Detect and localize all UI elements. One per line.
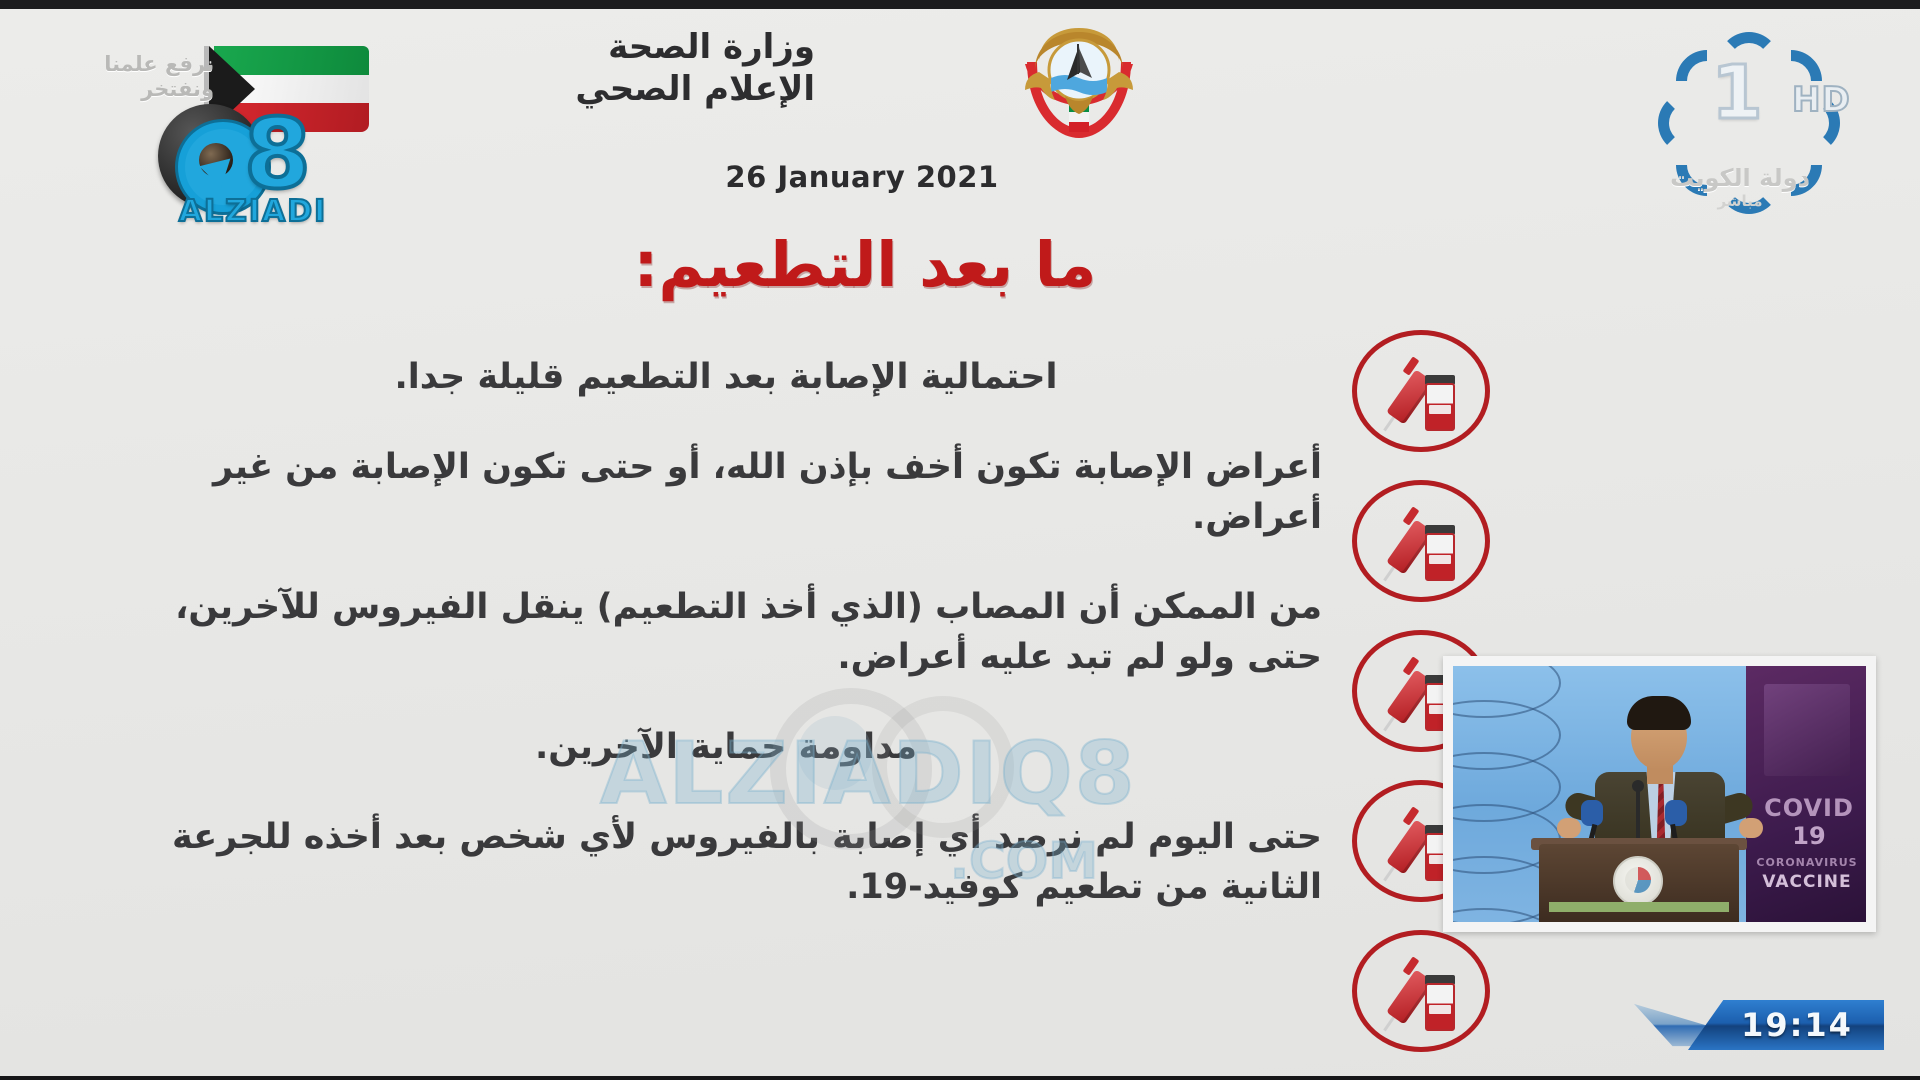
live-indicator: مباشر	[1640, 192, 1840, 210]
broadcast-clock: 19:14	[1688, 1000, 1884, 1050]
channel-country-label: دولة الكويت	[1640, 164, 1840, 192]
vaccine-photo	[1764, 684, 1850, 776]
page-title-text: ما بعد التطعيم:	[634, 228, 1097, 301]
syringe-vaccine-icon	[1352, 930, 1490, 1052]
letterbox-bottom	[0, 1076, 1920, 1080]
backdrop-vaccine-label: VACCINE	[1748, 872, 1866, 892]
ministry-title: وزارة الصحة الإعلام الصحي	[575, 26, 815, 110]
page-title: ما بعد التطعيم:	[0, 228, 1920, 301]
channel-number: 1	[1702, 56, 1772, 130]
microphone-stand	[1636, 788, 1640, 844]
backdrop-coronavirus-label: CORONAVIRUS	[1748, 856, 1866, 869]
video-frame: COVID 19 CORONAVIRUS VACCINE	[1453, 666, 1866, 922]
clock-time: 19:14	[1688, 1000, 1884, 1050]
slide-paragraph-2: أعراض الإصابة تكون أخف بإذن الله، أو حتى…	[130, 442, 1322, 542]
alziadi-wordmark: ALZIADI	[158, 194, 348, 229]
ministry-line-1: وزارة الصحة	[575, 26, 815, 68]
briefing-date: 26 January 2021	[0, 160, 1920, 194]
kuwait-moh-emblem-icon	[1015, 18, 1143, 146]
kuwait-tv-channel-1-logo: 1 HD دولة الكويت مباشر	[1640, 24, 1880, 214]
podium-emblem-icon	[1613, 856, 1663, 906]
broadcast-screen: نرفع علمنا ونفتخر 8 ALZIADI وزارة الصحة …	[0, 0, 1920, 1080]
syringe-vaccine-icon	[1352, 330, 1490, 452]
syringe-vaccine-icon	[1352, 480, 1490, 602]
podium-base-strip	[1549, 902, 1729, 912]
slide-body: احتمالية الإصابة بعد التطعيم قليلة جدا. …	[130, 352, 1322, 952]
hd-badge: HD	[1792, 80, 1851, 120]
slide-paragraph-4: مداومة حماية الآخرين.	[130, 722, 1322, 772]
microphone-icon	[1581, 800, 1603, 826]
covid-vaccine-backdrop-panel: COVID 19 CORONAVIRUS VACCINE	[1746, 666, 1866, 922]
date-text: 26 January 2021	[725, 160, 998, 194]
slide-paragraph-5: حتى اليوم لم نرصد أي إصابة بالفيروس لأي …	[130, 812, 1322, 912]
ministry-line-2: الإعلام الصحي	[575, 68, 815, 110]
alziadi-q8-logo: نرفع علمنا ونفتخر 8 ALZIADI	[96, 18, 366, 234]
slide-paragraph-1: احتمالية الإصابة بعد التطعيم قليلة جدا.	[130, 352, 1322, 402]
letterbox-top	[0, 0, 1920, 9]
live-video-inset[interactable]: COVID 19 CORONAVIRUS VACCINE	[1443, 656, 1876, 932]
slide-paragraph-3: من الممكن أن المصاب (الذي أخذ التطعيم) ي…	[130, 582, 1322, 682]
backdrop-19-label: 19	[1754, 822, 1864, 850]
microphone-icon	[1665, 800, 1687, 826]
backdrop-covid-label: COVID	[1754, 794, 1864, 822]
alziadi-slogan: نرفع علمنا ونفتخر	[104, 52, 214, 102]
